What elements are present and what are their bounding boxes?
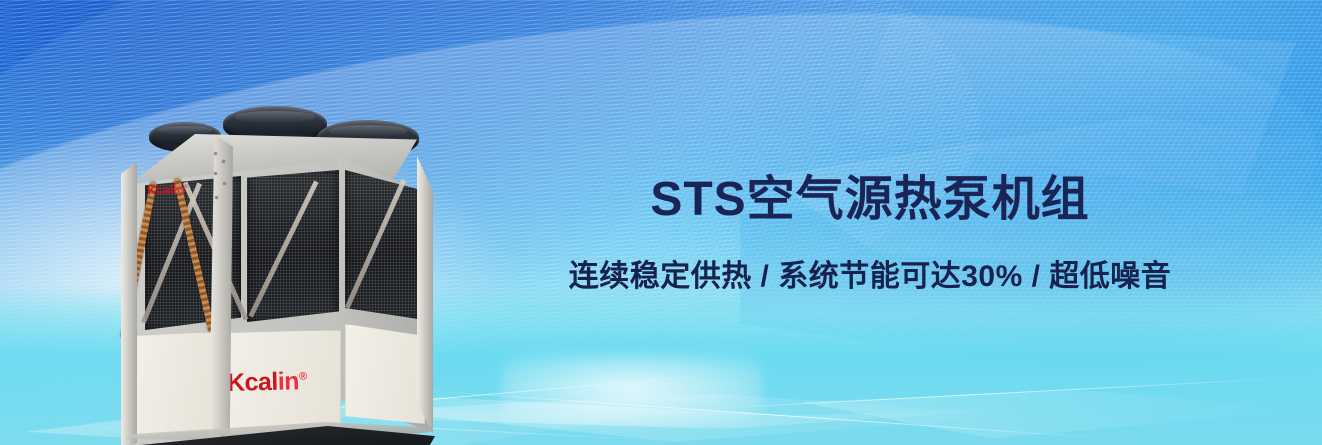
product-image-heat-pump: Kcalin® Kcalin®	[105, 104, 425, 386]
product-brand-logo-small: Kcalin®	[147, 181, 189, 197]
brand-text-kcal-small: Kcal	[147, 182, 174, 198]
condenser-coil-panel-3	[345, 170, 425, 320]
brand-text-in-small: in	[173, 181, 184, 196]
brand-registered-icon: ®	[299, 371, 307, 383]
product-brand-logo: Kcalin®	[227, 367, 308, 398]
brand-text-kcal: Kcal	[227, 368, 278, 397]
banner-headline: STS空气源热泵机组	[500, 175, 1240, 225]
product-hero-banner: Kcalin® Kcalin® STS空气源热泵机组 连续稳定供热 / 系统节能…	[0, 0, 1322, 445]
brand-registered-icon-small: ®	[184, 184, 188, 190]
cabinet-panel-right	[345, 324, 425, 424]
cabinet-panel-left	[131, 332, 215, 436]
banner-subline: 连续稳定供热 / 系统节能可达30% / 超低噪音	[500, 251, 1240, 295]
frame-post-right	[417, 156, 433, 432]
frame-post-left	[121, 162, 137, 445]
brand-text-in: in	[277, 367, 299, 396]
banner-copy-block: STS空气源热泵机组 连续稳定供热 / 系统节能可达30% / 超低噪音	[500, 175, 1240, 295]
